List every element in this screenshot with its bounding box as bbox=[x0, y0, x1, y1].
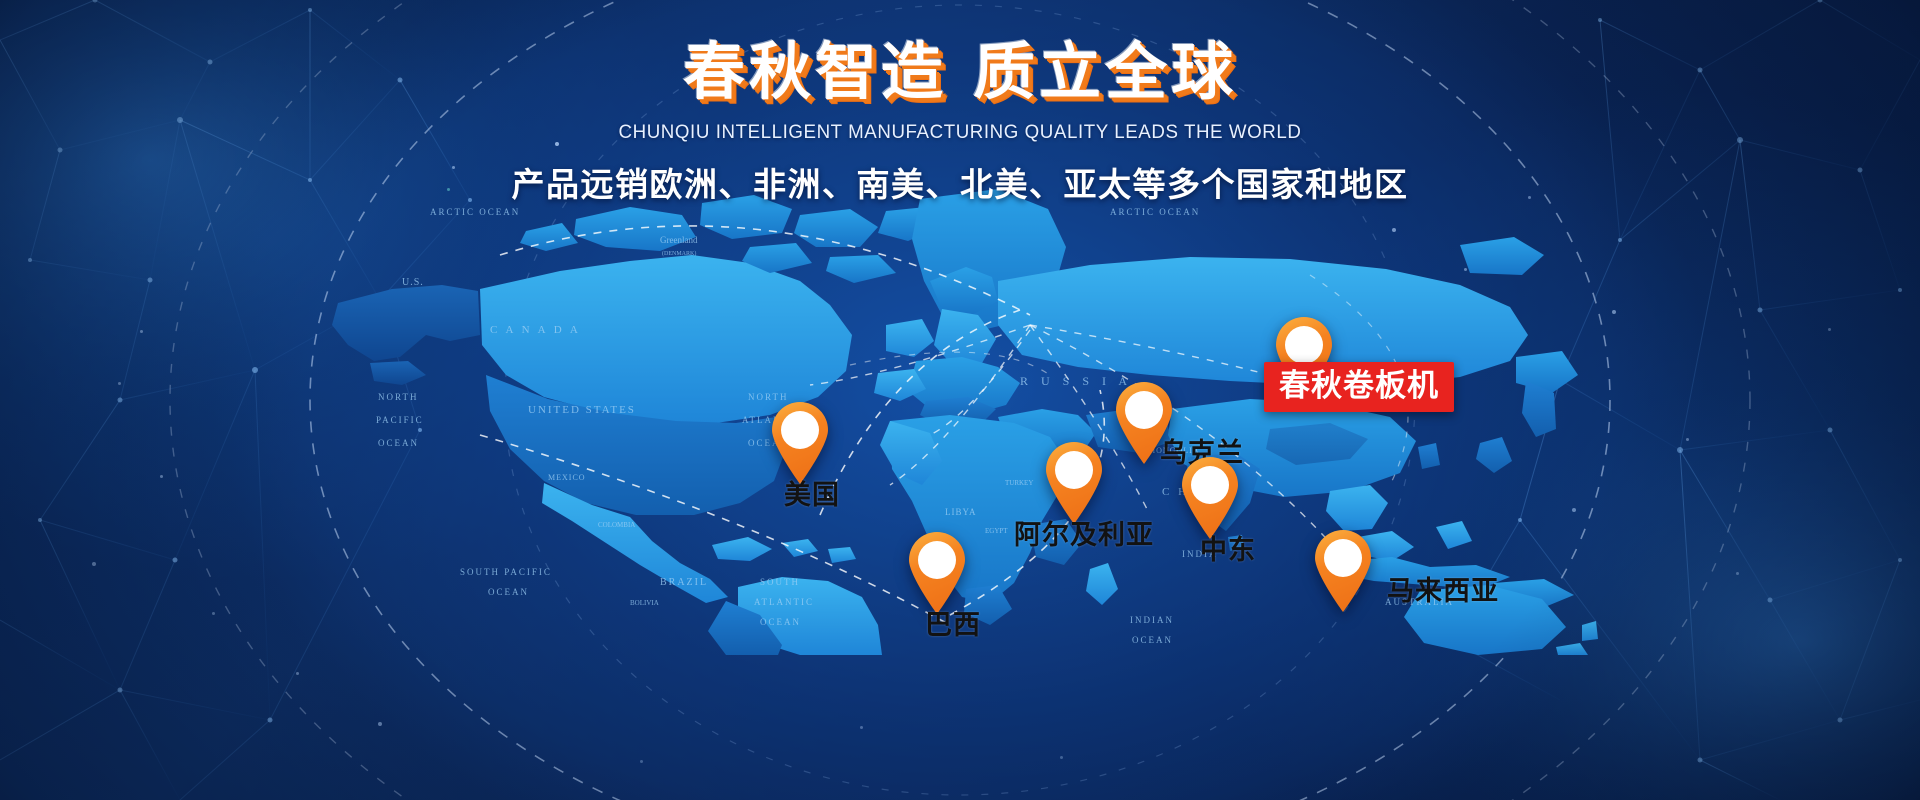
map-place-label: ATLANTIC bbox=[754, 597, 814, 607]
location-pin-icon bbox=[1312, 529, 1374, 613]
map-place-label: EGYPT bbox=[985, 527, 1008, 535]
map-place-label: OCEAN bbox=[378, 438, 419, 448]
brand-badge-label: 春秋卷板机 bbox=[1279, 369, 1439, 403]
map-place-label: ARCTIC OCEAN bbox=[430, 207, 520, 217]
map-marker-label-mideast: 中东 bbox=[1200, 528, 1256, 567]
map-place-label: Greenland bbox=[660, 235, 698, 245]
page-tagline-chinese: 产品远销欧洲、非洲、南美、北美、亚太等多个国家和地区 bbox=[0, 158, 1920, 206]
title-part-2: 质立全球 bbox=[973, 38, 1237, 107]
map-marker-brazil[interactable]: 巴西 bbox=[906, 531, 968, 615]
map-marker-label-brazil: 巴西 bbox=[925, 603, 981, 642]
map-place-label: OCEAN bbox=[760, 617, 801, 627]
map-place-label: PACIFIC bbox=[376, 415, 424, 425]
map-place-label: OCEAN bbox=[1132, 635, 1173, 645]
banner-header: 春秋智造质立全球 CHUNQIU INTELLIGENT MANUFACTURI… bbox=[0, 38, 1920, 206]
map-marker-label-malaysia: 马来西亚 bbox=[1387, 569, 1499, 608]
map-place-label: C A N A D A bbox=[490, 324, 581, 336]
map-marker-algeria[interactable]: 阿尔及利亚 bbox=[1043, 441, 1105, 525]
map-place-label: TURKEY bbox=[1005, 479, 1033, 487]
map-place-label: BOLIVIA bbox=[630, 599, 659, 607]
map-place-label: COLOMBIA bbox=[598, 521, 635, 529]
banner-stage: 春秋智造质立全球 CHUNQIU INTELLIGENT MANUFACTURI… bbox=[0, 0, 1920, 800]
map-place-label: SOUTH bbox=[760, 577, 800, 587]
map-place-label: UNITED STATES bbox=[528, 404, 636, 416]
map-marker-label-usa: 美国 bbox=[784, 473, 840, 512]
brand-badge[interactable]: 春秋卷板机 bbox=[1264, 362, 1454, 412]
page-title: 春秋智造质立全球 bbox=[0, 38, 1920, 107]
map-place-label: ARCTIC OCEAN bbox=[1110, 207, 1200, 217]
map-place-label: NORTH bbox=[378, 392, 418, 402]
map-place-label: SOUTH PACIFIC bbox=[460, 567, 552, 577]
map-place-label: (DENMARK) bbox=[662, 250, 696, 257]
map-place-label: INDIAN bbox=[1130, 615, 1174, 625]
map-marker-malaysia[interactable]: 马来西亚 bbox=[1312, 529, 1374, 613]
map-marker-usa[interactable]: 美国 bbox=[769, 401, 831, 485]
map-marker-mideast[interactable]: 中东 bbox=[1179, 456, 1241, 540]
map-place-label: BRAZIL bbox=[660, 577, 708, 588]
map-marker-label-algeria: 阿尔及利亚 bbox=[1014, 513, 1154, 552]
world-map: ARCTIC OCEANARCTIC OCEANGreenland(DENMAR… bbox=[330, 185, 1600, 655]
map-place-label: MEXICO bbox=[548, 473, 586, 482]
map-marker-ukraine[interactable]: 乌克兰 bbox=[1113, 381, 1175, 465]
page-subtitle-english: CHUNQIU INTELLIGENT MANUFACTURING QUALIT… bbox=[38, 121, 1881, 144]
map-place-label: U.S. bbox=[402, 277, 424, 288]
map-place-label: OCEAN bbox=[488, 587, 529, 597]
map-place-label: LIBYA bbox=[945, 507, 977, 517]
title-part-1: 春秋智造 bbox=[683, 38, 947, 107]
